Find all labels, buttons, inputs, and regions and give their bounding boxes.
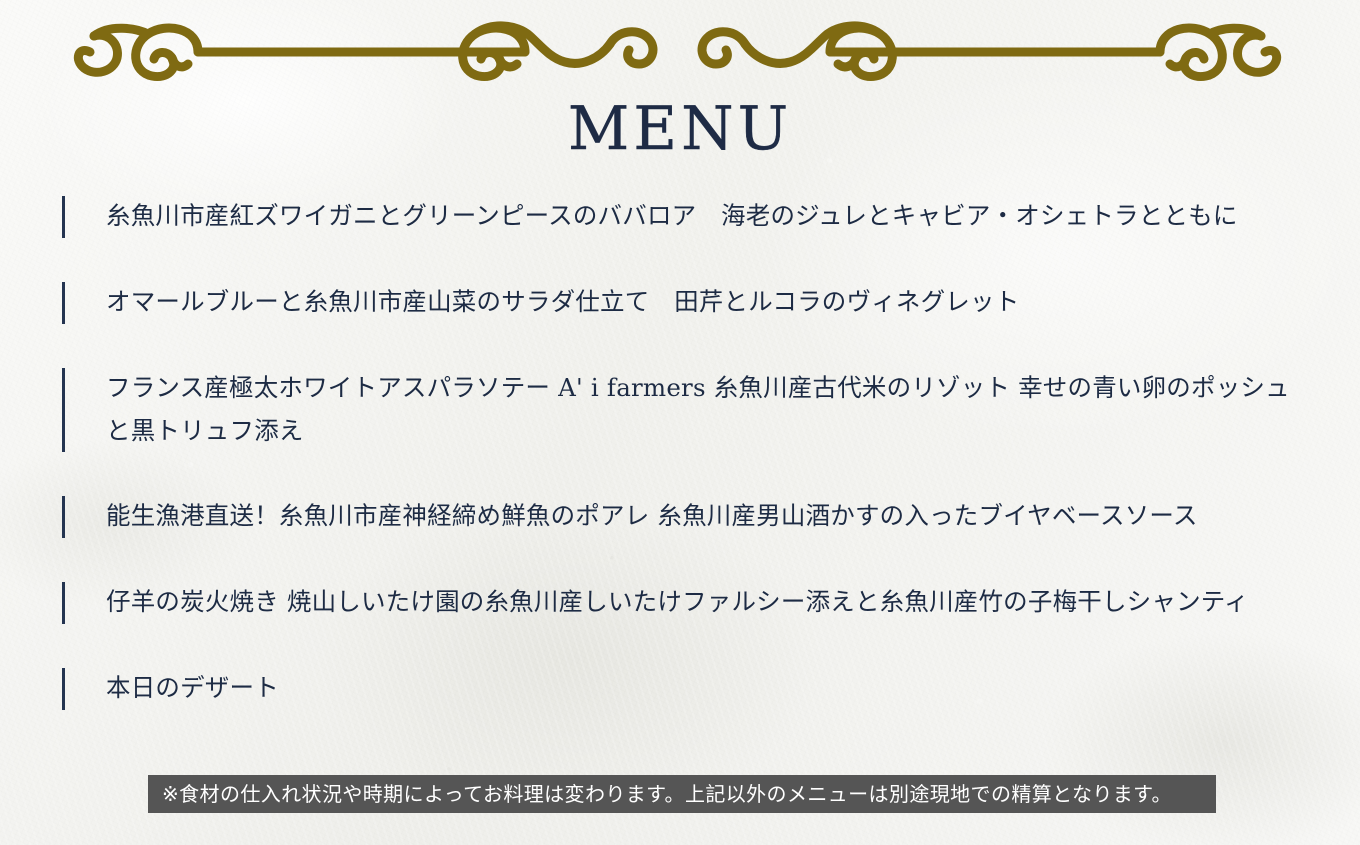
menu-course-list: 糸魚川市産紅ズワイガニとグリーンピースのババロア 海老のジュレとキャビア・オシェ… <box>62 193 1302 710</box>
menu-item: 能生漁港直送！糸魚川市産神経締め鮮魚のポアレ 糸魚川産男山酒かすの入ったブイヤベ… <box>62 493 1302 538</box>
footnote-text: ※食材の仕入れ状況や時期によってお料理は変わります。上記以外のメニューは別途現地… <box>148 775 1172 813</box>
course-description: 本日のデザート <box>106 665 1302 709</box>
footnote-bar: ※食材の仕入れ状況や時期によってお料理は変わります。上記以外のメニューは別途現地… <box>148 775 1216 813</box>
course-bullet-mark <box>62 368 65 452</box>
menu-item: オマールブルーと糸魚川市産山菜のサラダ仕立て 田芹とルコラのヴィネグレット <box>62 279 1302 324</box>
course-bullet-mark <box>62 496 65 538</box>
course-description: フランス産極太ホワイトアスパラソテー A' i farmers 糸魚川産古代米の… <box>106 365 1302 452</box>
page-title: MENU <box>0 99 1360 159</box>
course-description: 能生漁港直送！糸魚川市産神経締め鮮魚のポアレ 糸魚川産男山酒かすの入ったブイヤベ… <box>106 493 1302 537</box>
course-bullet-mark <box>62 582 65 624</box>
menu-item: 糸魚川市産紅ズワイガニとグリーンピースのババロア 海老のジュレとキャビア・オシェ… <box>62 193 1302 238</box>
menu-item: 仔羊の炭火焼き 焼山しいたけ園の糸魚川産しいたけファルシー添えと糸魚川産竹の子梅… <box>62 579 1302 624</box>
course-bullet-mark <box>62 282 65 324</box>
course-bullet-mark <box>62 668 65 710</box>
course-description: オマールブルーと糸魚川市産山菜のサラダ仕立て 田芹とルコラのヴィネグレット <box>106 279 1302 323</box>
course-description: 糸魚川市産紅ズワイガニとグリーンピースのババロア 海老のジュレとキャビア・オシェ… <box>106 193 1302 237</box>
course-description: 仔羊の炭火焼き 焼山しいたけ園の糸魚川産しいたけファルシー添えと糸魚川産竹の子梅… <box>106 579 1302 623</box>
menu-item: フランス産極太ホワイトアスパラソテー A' i farmers 糸魚川産古代米の… <box>62 365 1302 452</box>
menu-item: 本日のデザート <box>62 665 1302 710</box>
course-bullet-mark <box>62 196 65 238</box>
menu-page: MENU 糸魚川市産紅ズワイガニとグリーンピースのババロア 海老のジュレとキャビ… <box>0 0 1360 845</box>
ornamental-flourish-divider <box>70 14 1285 86</box>
